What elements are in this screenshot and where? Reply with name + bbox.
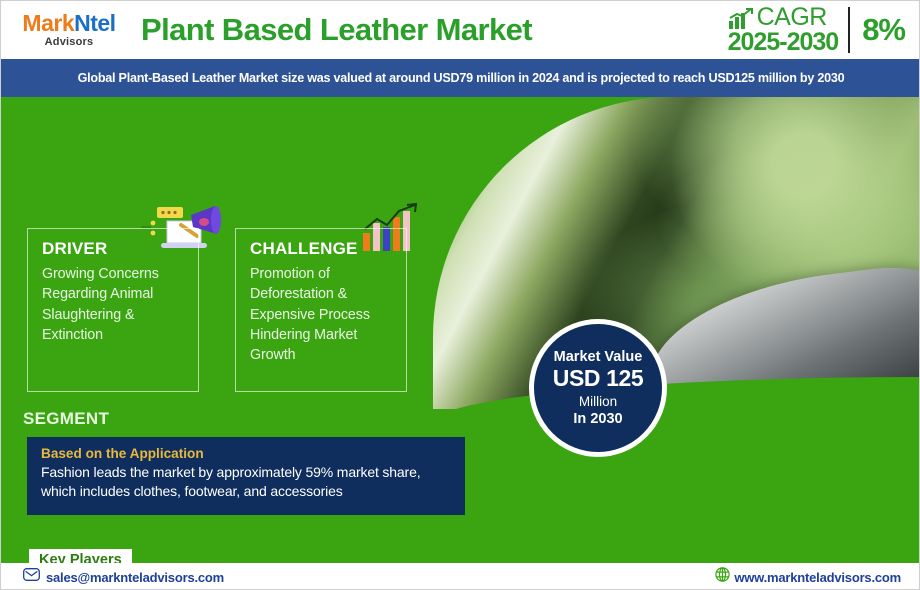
logo-part-mark: Mark	[22, 10, 74, 36]
cagr-block: CAGR 2025-2030	[728, 5, 849, 56]
segment-label: SEGMENT	[23, 409, 109, 429]
footer-website[interactable]: www.marknteladvisors.com	[714, 567, 901, 587]
page-title: Plant Based Leather Market	[141, 12, 532, 48]
globe-icon	[714, 567, 731, 587]
segment-card-text: Fashion leads the market by approximatel…	[41, 463, 451, 501]
cagr-years: 2025-2030	[728, 30, 839, 56]
segment-card-title: Based on the Application	[41, 446, 451, 461]
segment-card: Based on the Application Fashion leads t…	[27, 437, 465, 515]
body-panel: DRIVER Growing Concerns Regarding Animal…	[1, 97, 920, 563]
infographic-page: MarkNtel Advisors Plant Based Leather Ma…	[0, 0, 920, 590]
subtitle-bar: Global Plant-Based Leather Market size w…	[1, 59, 920, 97]
subtitle-text: Global Plant-Based Leather Market size w…	[78, 71, 845, 85]
challenge-text: Promotion of Deforestation & Expensive P…	[250, 264, 394, 365]
logo-wordmark: MarkNtel	[22, 12, 115, 35]
driver-title: DRIVER	[42, 239, 186, 259]
cagr-label: CAGR	[757, 5, 827, 31]
logo-tagline: Advisors	[45, 37, 94, 48]
cagr-value: 8%	[850, 12, 920, 48]
challenge-title: CHALLENGE	[250, 239, 394, 259]
cagr-group: CAGR 2025-2030 8%	[728, 5, 920, 55]
company-logo[interactable]: MarkNtel Advisors	[13, 12, 125, 48]
footer-website-text: www.marknteladvisors.com	[734, 570, 901, 585]
header: MarkNtel Advisors Plant Based Leather Ma…	[1, 1, 920, 59]
driver-text: Growing Concerns Regarding Animal Slaugh…	[42, 264, 186, 345]
footer-email-text: sales@marknteladvisors.com	[46, 570, 224, 585]
cactus-leather-photo	[433, 97, 920, 409]
market-value-year: In 2030	[573, 411, 622, 427]
envelope-icon	[23, 568, 40, 586]
bar-chart-growth-icon	[728, 10, 754, 30]
market-value-amount: USD 125	[553, 366, 644, 392]
market-value-unit: Million	[579, 394, 617, 409]
key-players-pill: Key Players	[29, 549, 132, 563]
cagr-top-row: CAGR	[728, 5, 827, 31]
footer-email[interactable]: sales@marknteladvisors.com	[23, 568, 224, 586]
driver-box: DRIVER Growing Concerns Regarding Animal…	[27, 228, 199, 392]
market-value-label: Market Value	[554, 349, 643, 365]
footer: sales@marknteladvisors.com www.markntela…	[1, 563, 920, 590]
market-value-badge: Market Value USD 125 Million In 2030	[529, 319, 667, 457]
logo-part-ntel: Ntel	[74, 10, 115, 36]
challenge-box: CHALLENGE Promotion of Deforestation & E…	[235, 228, 407, 392]
